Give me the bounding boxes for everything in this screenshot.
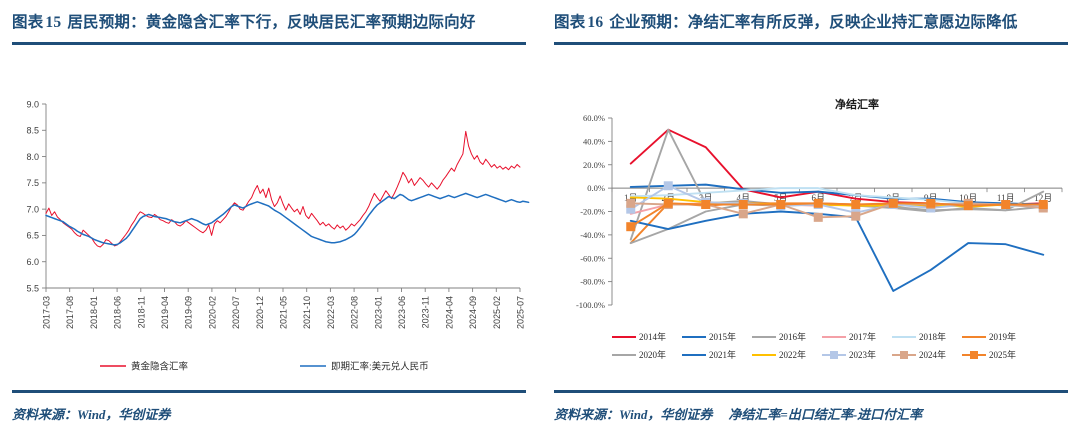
exhibit-15-title: 图表15居民预期：黄金隐含汇率下行，反映居民汇率预期边际向好 bbox=[12, 0, 526, 36]
series-marker-9 bbox=[626, 205, 635, 214]
x-category-label: 1月 bbox=[624, 193, 638, 203]
legend-marker-9 bbox=[830, 351, 838, 359]
exhibit-16-title-text: 企业预期：净结汇率有所反弹，反映企业持汇意愿边际降低 bbox=[609, 14, 1017, 31]
series-line-9 bbox=[631, 186, 1044, 213]
legend-label-10: 2024年 bbox=[919, 349, 946, 360]
legend-marker-10 bbox=[900, 351, 908, 359]
x-tick-label: 2023-01 bbox=[373, 296, 383, 329]
x-category-label: 10月 bbox=[959, 193, 977, 203]
y-tick-label: 20.0% bbox=[583, 160, 605, 170]
series-marker-11 bbox=[851, 200, 860, 209]
y-tick-label: -20.0% bbox=[580, 207, 605, 217]
series-marker-10 bbox=[701, 200, 710, 209]
x-tick-label: 2023-11 bbox=[421, 296, 431, 328]
y-tick-label: 7.5 bbox=[26, 178, 39, 188]
series-marker-10 bbox=[664, 200, 673, 209]
series-marker-9 bbox=[1039, 202, 1048, 211]
series-line-4 bbox=[631, 188, 1044, 207]
series-line-1 bbox=[631, 185, 1044, 205]
x-category-label: 2月 bbox=[661, 193, 675, 203]
x-tick-label: 2024-09 bbox=[468, 296, 478, 329]
exhibit-16-number: 16 bbox=[585, 14, 609, 31]
y-tick-label: 9.0 bbox=[26, 99, 39, 109]
x-tick-label: 2019-04 bbox=[160, 296, 170, 329]
x-tick-label: 2018-11 bbox=[136, 296, 146, 328]
x-tick-label: 2017-08 bbox=[65, 296, 75, 329]
series-marker-11 bbox=[964, 201, 973, 210]
legend-label-4: 2018年 bbox=[919, 331, 946, 342]
x-tick-label: 2020-07 bbox=[231, 296, 241, 329]
series-line-0 bbox=[46, 131, 520, 247]
y-tick-label: 8.5 bbox=[26, 126, 39, 136]
legend-label-1: 2015年 bbox=[709, 331, 736, 342]
series-marker-10 bbox=[1001, 200, 1010, 209]
y-tick-label: -40.0% bbox=[580, 230, 605, 240]
series-marker-10 bbox=[739, 209, 748, 218]
series-marker-9 bbox=[964, 200, 973, 209]
exhibit-16-chart: 净结汇率60.0%40.0%20.0%0.0%-20.0%-40.0%-60.0… bbox=[540, 0, 1080, 432]
series-marker-9 bbox=[739, 199, 748, 208]
exhibit-16-title: 图表16企业预期：净结汇率有所反弹，反映企业持汇意愿边际降低 bbox=[554, 0, 1068, 36]
x-category-label: 6月 bbox=[811, 193, 825, 203]
series-marker-11 bbox=[1039, 200, 1048, 209]
exhibit-16-label: 图表 bbox=[554, 14, 585, 31]
y-tick-label: -60.0% bbox=[580, 253, 605, 263]
exhibit-15-bottom-rule bbox=[12, 390, 526, 393]
x-tick-label: 2024-04 bbox=[444, 296, 454, 329]
x-category-label: 5月 bbox=[774, 193, 788, 203]
series-line-3 bbox=[631, 203, 1044, 214]
series-marker-11 bbox=[926, 199, 935, 208]
legend-label-11: 2025年 bbox=[989, 349, 1016, 360]
legend-label-9: 2023年 bbox=[849, 349, 876, 360]
series-marker-10 bbox=[851, 212, 860, 221]
series-line-6 bbox=[631, 204, 1044, 243]
chart-title: 净结汇率 bbox=[835, 97, 879, 111]
y-tick-label: 5.5 bbox=[26, 283, 39, 293]
legend-label-0: 黄金隐含汇率 bbox=[131, 361, 189, 373]
series-marker-11 bbox=[664, 199, 673, 208]
exhibit-16-bottom-rule bbox=[554, 390, 1068, 393]
x-category-label: 8月 bbox=[886, 193, 900, 203]
x-tick-label: 2021-05 bbox=[279, 296, 289, 329]
series-marker-11 bbox=[814, 199, 823, 208]
series-marker-10 bbox=[926, 200, 935, 209]
series-marker-10 bbox=[626, 199, 635, 208]
legend-label-2: 2016年 bbox=[779, 331, 806, 342]
x-tick-label: 2023-06 bbox=[397, 296, 407, 329]
x-category-label: 11月 bbox=[997, 193, 1015, 203]
legend-label-1: 即期汇率:美元兑人民币 bbox=[331, 361, 429, 373]
exhibit-16-source: 资料来源：Wind，华创证券净结汇率=出口结汇率-进口付汇率 bbox=[554, 404, 1068, 423]
series-marker-9 bbox=[814, 200, 823, 209]
exhibit-15-chart: 9.08.58.07.57.06.56.05.52017-032017-0820… bbox=[0, 0, 540, 432]
y-tick-label: 6.5 bbox=[26, 231, 39, 241]
exhibit-15-panel: 图表15居民预期：黄金隐含汇率下行，反映居民汇率预期边际向好 9.08.58.0… bbox=[0, 0, 540, 432]
exhibit-15-top-rule bbox=[12, 42, 526, 45]
series-line-5 bbox=[631, 203, 1044, 243]
x-tick-label: 2018-01 bbox=[89, 296, 99, 329]
series-marker-9 bbox=[701, 198, 710, 207]
x-tick-label: 2022-03 bbox=[326, 296, 336, 329]
series-line-8 bbox=[631, 197, 1044, 206]
legend-label-7: 2021年 bbox=[709, 349, 736, 360]
series-marker-11 bbox=[626, 222, 635, 231]
series-marker-10 bbox=[814, 213, 823, 222]
legend-marker-11 bbox=[970, 351, 978, 359]
x-category-label: 7月 bbox=[849, 193, 863, 203]
series-marker-10 bbox=[776, 200, 785, 209]
x-tick-label: 2021-10 bbox=[302, 296, 312, 329]
series-marker-9 bbox=[889, 200, 898, 209]
x-tick-label: 2018-06 bbox=[113, 296, 123, 329]
series-line-0 bbox=[631, 130, 1044, 206]
series-line-11 bbox=[631, 203, 1044, 226]
x-tick-label: 2025-07 bbox=[516, 296, 526, 329]
x-category-label: 3月 bbox=[699, 193, 713, 203]
exhibit-16-source-note: 净结汇率=出口结汇率-进口付汇率 bbox=[712, 407, 922, 422]
series-line-2 bbox=[631, 130, 1044, 240]
legend-label-8: 2022年 bbox=[779, 349, 806, 360]
y-tick-label: 0.0% bbox=[587, 183, 605, 193]
series-marker-11 bbox=[1001, 200, 1010, 209]
x-category-label: 4月 bbox=[736, 193, 750, 203]
exhibit-16-source-text: 资料来源：Wind，华创证券 bbox=[554, 407, 712, 422]
series-marker-11 bbox=[889, 199, 898, 208]
y-tick-label: 6.0 bbox=[26, 257, 39, 267]
series-marker-11 bbox=[739, 200, 748, 209]
series-marker-9 bbox=[1001, 200, 1010, 209]
series-line-1 bbox=[46, 193, 529, 245]
y-tick-label: -100.0% bbox=[576, 300, 605, 310]
series-marker-9 bbox=[926, 203, 935, 212]
exhibit-15-label: 图表 bbox=[12, 14, 43, 31]
series-marker-11 bbox=[776, 200, 785, 209]
series-marker-9 bbox=[776, 201, 785, 210]
x-tick-label: 2022-08 bbox=[350, 296, 360, 329]
exhibit-16-top-rule bbox=[554, 42, 1068, 45]
figure-page: 图表15居民预期：黄金隐含汇率下行，反映居民汇率预期边际向好 9.08.58.0… bbox=[0, 0, 1080, 432]
series-marker-11 bbox=[701, 200, 710, 209]
legend-label-5: 2019年 bbox=[989, 331, 1016, 342]
y-tick-label: 8.0 bbox=[26, 152, 39, 162]
legend-label-6: 2020年 bbox=[639, 349, 666, 360]
series-marker-10 bbox=[889, 199, 898, 208]
series-marker-9 bbox=[664, 181, 673, 190]
y-tick-label: 60.0% bbox=[583, 113, 605, 123]
y-tick-label: 7.0 bbox=[26, 204, 39, 214]
legend-label-3: 2017年 bbox=[849, 331, 876, 342]
exhibit-15-number: 15 bbox=[43, 14, 67, 31]
x-tick-label: 2020-12 bbox=[255, 296, 265, 329]
x-tick-label: 2020-02 bbox=[207, 296, 217, 329]
exhibit-16-panel: 图表16企业预期：净结汇率有所反弹，反映企业持汇意愿边际降低 净结汇率60.0%… bbox=[540, 0, 1080, 432]
x-category-label: 12月 bbox=[1034, 193, 1052, 203]
series-line-7 bbox=[631, 212, 1044, 291]
series-marker-9 bbox=[851, 208, 860, 217]
legend-label-0: 2014年 bbox=[639, 331, 666, 342]
x-tick-label: 2025-02 bbox=[492, 296, 502, 329]
x-tick-label: 2017-03 bbox=[42, 296, 52, 329]
series-marker-10 bbox=[1039, 203, 1048, 212]
y-tick-label: 40.0% bbox=[583, 136, 605, 146]
series-marker-10 bbox=[964, 199, 973, 208]
x-tick-label: 2019-09 bbox=[184, 296, 194, 329]
exhibit-15-title-text: 居民预期：黄金隐含汇率下行，反映居民汇率预期边际向好 bbox=[67, 14, 475, 31]
exhibit-15-source-text: 资料来源：Wind，华创证券 bbox=[12, 407, 170, 422]
x-category-label: 9月 bbox=[924, 193, 938, 203]
exhibit-15-source: 资料来源：Wind，华创证券 bbox=[12, 404, 526, 423]
series-line-10 bbox=[631, 203, 1044, 217]
y-tick-label: -80.0% bbox=[580, 277, 605, 287]
